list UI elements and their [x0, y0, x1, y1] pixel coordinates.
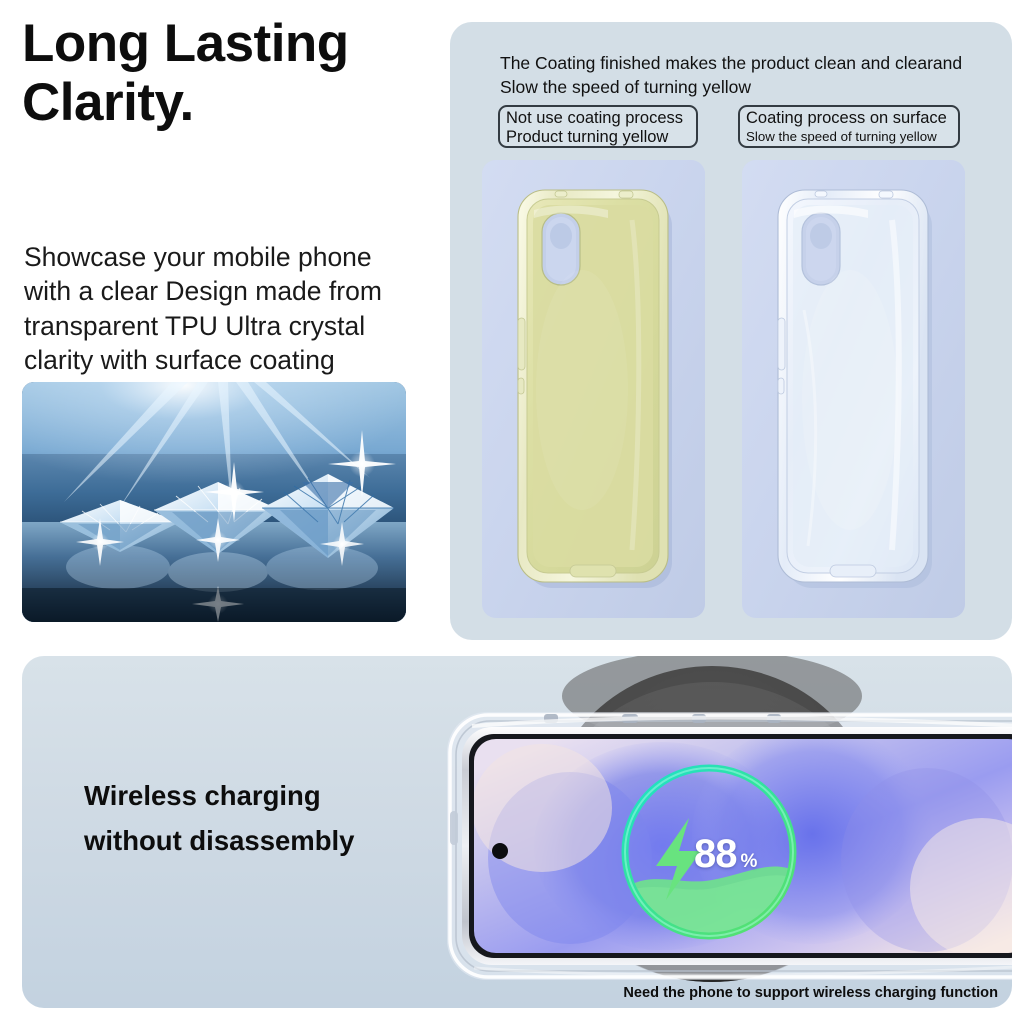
coated-case-illustration	[742, 160, 965, 618]
wireless-footnote: Need the phone to support wireless charg…	[623, 985, 998, 1001]
coating-intro-text: The Coating finished makes the product c…	[500, 52, 1000, 99]
intro-paragraph: Showcase your mobile phone with a clear …	[24, 240, 424, 378]
wireless-heading-line1: Wireless charging	[84, 774, 484, 819]
diamond-photo	[22, 382, 406, 622]
callout-coated: Coating process on surface Slow the spee…	[738, 105, 960, 148]
charge-percent-unit: %	[741, 851, 758, 873]
charge-percent-readout: 88 %	[694, 832, 757, 877]
callout-uncoated: Not use coating process Product turning …	[498, 105, 698, 148]
callout-coated-line1: Coating process on surface	[746, 109, 952, 128]
wireless-charging-panel: Wireless charging without disassembly 88…	[22, 656, 1012, 1008]
uncoated-case-illustration	[482, 160, 705, 618]
diamond-photo-illustration	[22, 382, 406, 622]
callout-coated-line2: Slow the speed of turning yellow	[746, 128, 952, 145]
coated-clear-case-photo	[742, 160, 965, 618]
left-column: Long Lasting Clarity. Showcase your mobi…	[0, 0, 440, 648]
front-camera-icon	[492, 843, 508, 859]
callout-uncoated-line1: Not use coating process	[506, 109, 690, 128]
charge-percent-value: 88	[694, 832, 737, 877]
coating-comparison-panel: The Coating finished makes the product c…	[450, 22, 1012, 640]
callout-uncoated-line2: Product turning yellow	[506, 128, 690, 147]
page-title: Long Lasting Clarity.	[22, 14, 432, 133]
uncoated-yellowed-case-photo	[482, 160, 705, 618]
wireless-heading: Wireless charging without disassembly	[84, 774, 484, 863]
wireless-heading-line2: without disassembly	[84, 819, 484, 864]
